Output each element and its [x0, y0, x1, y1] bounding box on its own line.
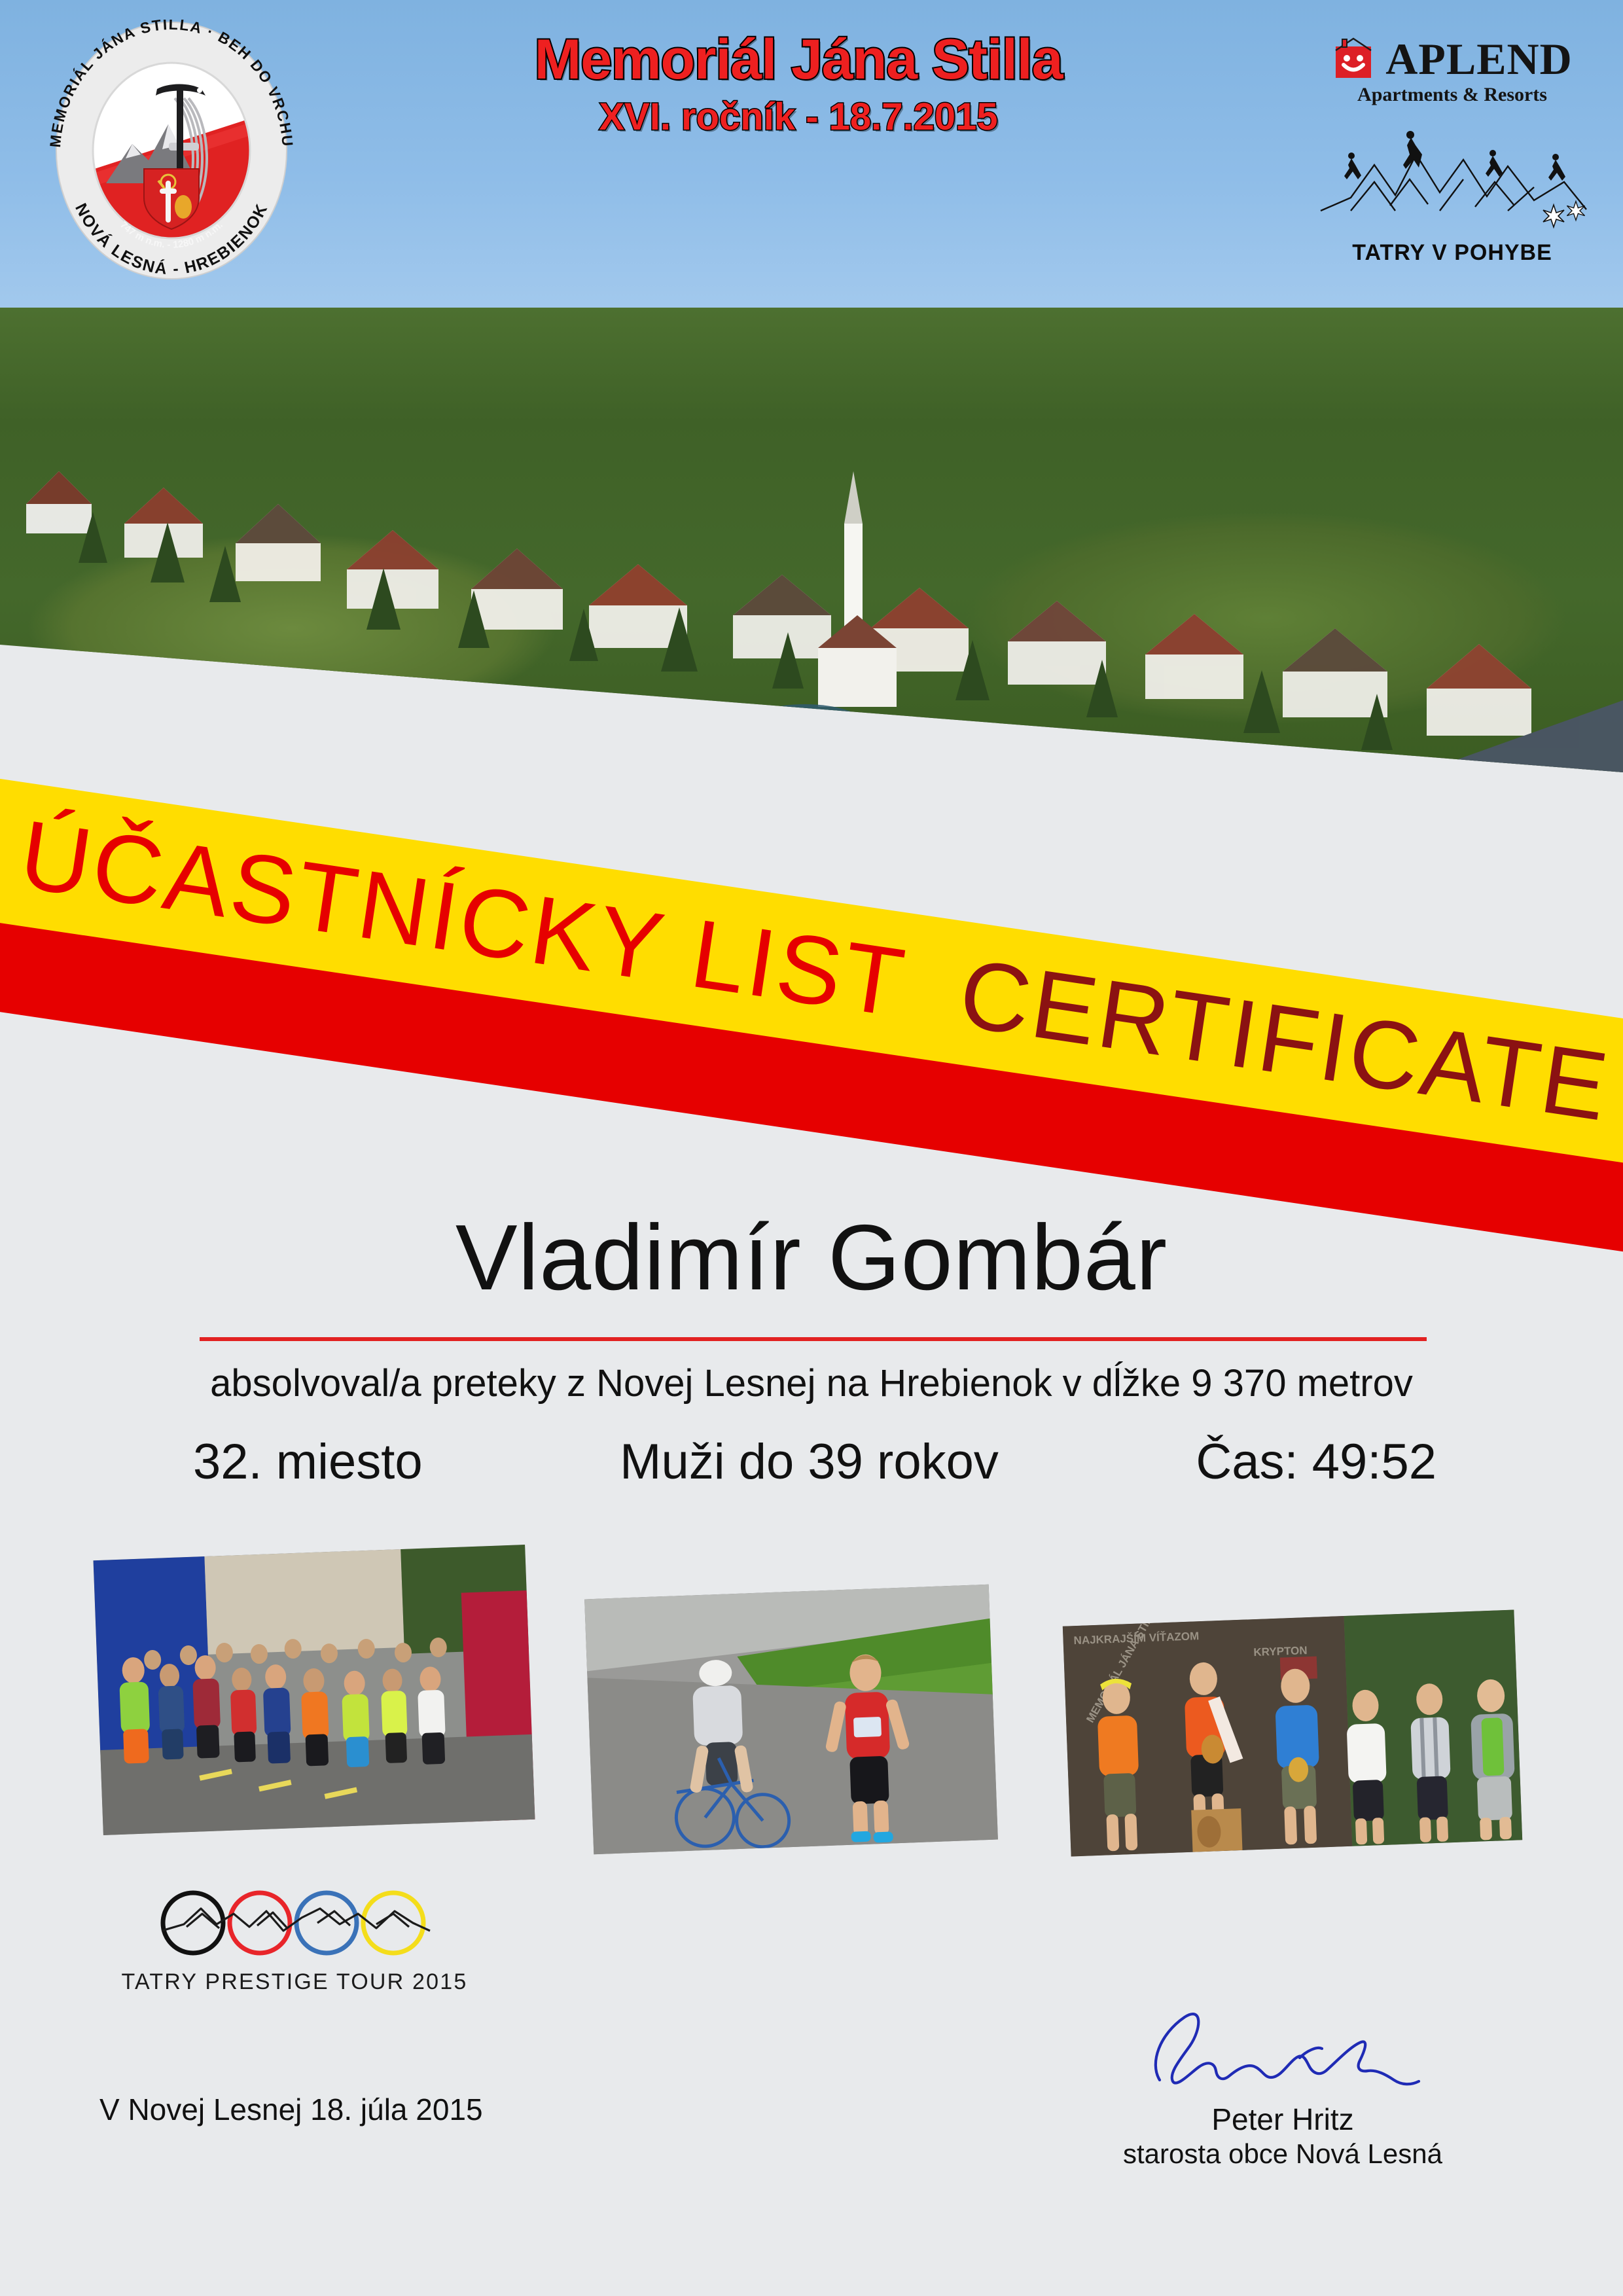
result-row: 32. miesto Muži do 39 rokov Čas: 49:52 — [164, 1433, 1459, 1490]
event-title: Memoriál Jána Stilla — [366, 27, 1230, 92]
signature-image — [1086, 1995, 1479, 2093]
signer-name: Peter Hritz — [1086, 2102, 1479, 2137]
church — [818, 471, 897, 707]
result-category: Muži do 39 rokov — [620, 1433, 999, 1490]
certificate-page: MEMORIÁL JÁNA STILLA · BEH DO VRCHU NOVÁ… — [0, 0, 1623, 2296]
sponsor-block: APLEND Apartments & Resorts — [1298, 37, 1606, 266]
race-start-photo — [94, 1545, 535, 1835]
race-course-photo — [584, 1585, 998, 1854]
title-block: Memoriál Jána Stilla XVI. ročník - 18.7.… — [366, 27, 1230, 139]
tatry-v-pohybe-logo: TATRY V POHYBE — [1298, 119, 1606, 266]
achievement-text: absolvoval/a preteky z Novej Lesnej na H… — [0, 1361, 1623, 1405]
tatry-v-pohybe-text: TATRY V POHYBE — [1298, 240, 1606, 266]
aplend-brand-text: APLEND — [1385, 37, 1573, 81]
village-rooftops — [0, 308, 1623, 825]
aplend-tagline: Apartments & Resorts — [1298, 84, 1606, 106]
event-edition: XVI. ročník - 18.7.2015 — [366, 95, 1230, 139]
tour-caption: TATRY PRESTIGE TOUR 2015 — [121, 1969, 468, 1995]
result-place: 32. miesto — [193, 1433, 423, 1490]
svg-text:KRYPTON: KRYPTON — [1253, 1644, 1308, 1659]
tatry-prestige-tour-logo: TATRY PRESTIGE TOUR 2015 — [121, 1885, 468, 1995]
name-divider-rule — [200, 1337, 1427, 1341]
signer-role: starosta obce Nová Lesná — [1086, 2138, 1479, 2170]
result-time: Čas: 49:52 — [1196, 1433, 1436, 1490]
signature-block: Peter Hritz starosta obce Nová Lesná — [1086, 1995, 1479, 2170]
issue-place-date: V Novej Lesnej 18. júla 2015 — [99, 2092, 483, 2127]
event-logo: MEMORIÁL JÁNA STILLA · BEH DO VRCHU NOVÁ… — [34, 20, 309, 281]
aplend-logo: APLEND — [1298, 37, 1606, 81]
recipient-name: Vladimír Gombár — [0, 1204, 1623, 1312]
aplend-house-icon — [1332, 37, 1375, 81]
award-ceremony-photo: NAJKRAJŠÍM VÍŤAZOM KRYPTON MEMORIÁL JÁNA… — [1063, 1609, 1522, 1856]
